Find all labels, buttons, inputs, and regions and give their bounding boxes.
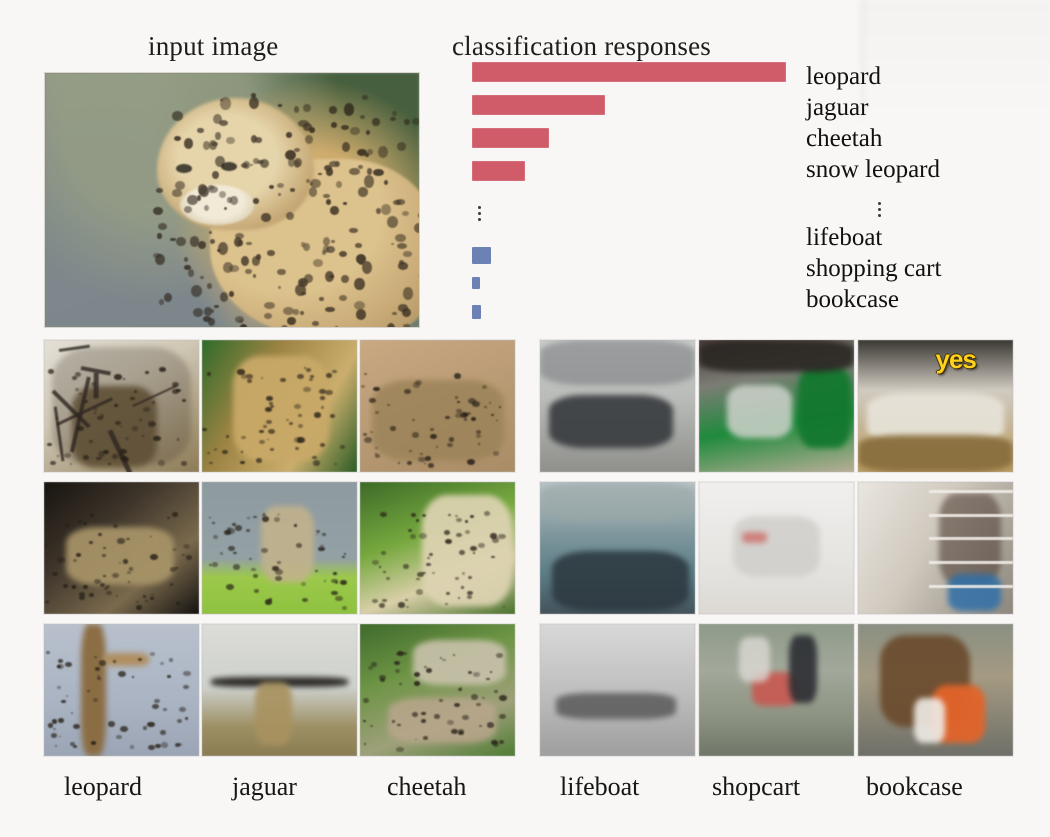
thumbnail-leopard-2 [44,482,199,614]
thumbnail-jaguar-3 [202,624,357,756]
bar-cheetah [472,128,549,148]
thumbnail-shopcart-2 [699,482,854,614]
classification-responses-title: classification responses [452,31,711,62]
thumbnail-cheetah-1 [360,340,515,472]
bar-leopard [472,62,786,82]
bar-shopping-cart [472,277,480,289]
figure-root: input image classification responses leo… [0,0,1050,837]
bar-lifeboat [472,247,491,264]
thumbnail-row [44,482,1014,614]
thumbnail-shopcart-3 [699,624,854,756]
column-label-bookcase: bookcase [866,772,963,802]
thumbnail-cheetah-2 [360,482,515,614]
column-label-cheetah: cheetah [387,772,466,802]
class-label-bookcase: bookcase [806,285,899,315]
column-label-leopard: leopard [64,772,142,802]
column-label-shopcart: shopcart [712,772,800,802]
thumbnail-leopard-1 [44,340,199,472]
class-label-snow-leopard: snow leopard [806,155,940,185]
classification-bar-chart [470,62,800,322]
input-image-photo [44,72,420,328]
thumbnail-cheetah-3 [360,624,515,756]
thumbnail-row [44,624,1014,756]
input-image-title: input image [148,31,278,62]
thumbnail-row: yes [44,340,1014,472]
thumbnail-overlay-text: yes [936,344,976,375]
thumbnail-shopcart-1 [699,340,854,472]
column-label-row: leopardjaguarcheetahlifeboatshopcartbook… [0,772,1050,822]
thumbnail-bookcase-3 [858,624,1013,756]
column-label-lifeboat: lifeboat [560,772,639,802]
thumbnail-jaguar-2 [202,482,357,614]
thumbnail-lifeboat-1 [540,340,695,472]
class-label-cheetah: cheetah [806,124,882,154]
background-watermark [860,0,1050,120]
class-label-jaguar: jaguar [806,93,868,123]
thumbnail-bookcase-2 [858,482,1013,614]
class-label-leopard: leopard [806,62,881,92]
thumbnail-lifeboat-2 [540,482,695,614]
thumbnail-leopard-3 [44,624,199,756]
bar-jaguar [472,95,605,115]
thumbnail-jaguar-1 [202,340,357,472]
thumbnail-bookcase-1: yes [858,340,1013,472]
column-label-jaguar: jaguar [232,772,297,802]
thumbnail-lifeboat-3 [540,624,695,756]
class-label-lifeboat: lifeboat [806,223,882,253]
bar-bookcase [472,305,481,319]
class-label-shopping-cart: shopping cart [806,254,941,284]
bar-snow-leopard [472,161,525,181]
